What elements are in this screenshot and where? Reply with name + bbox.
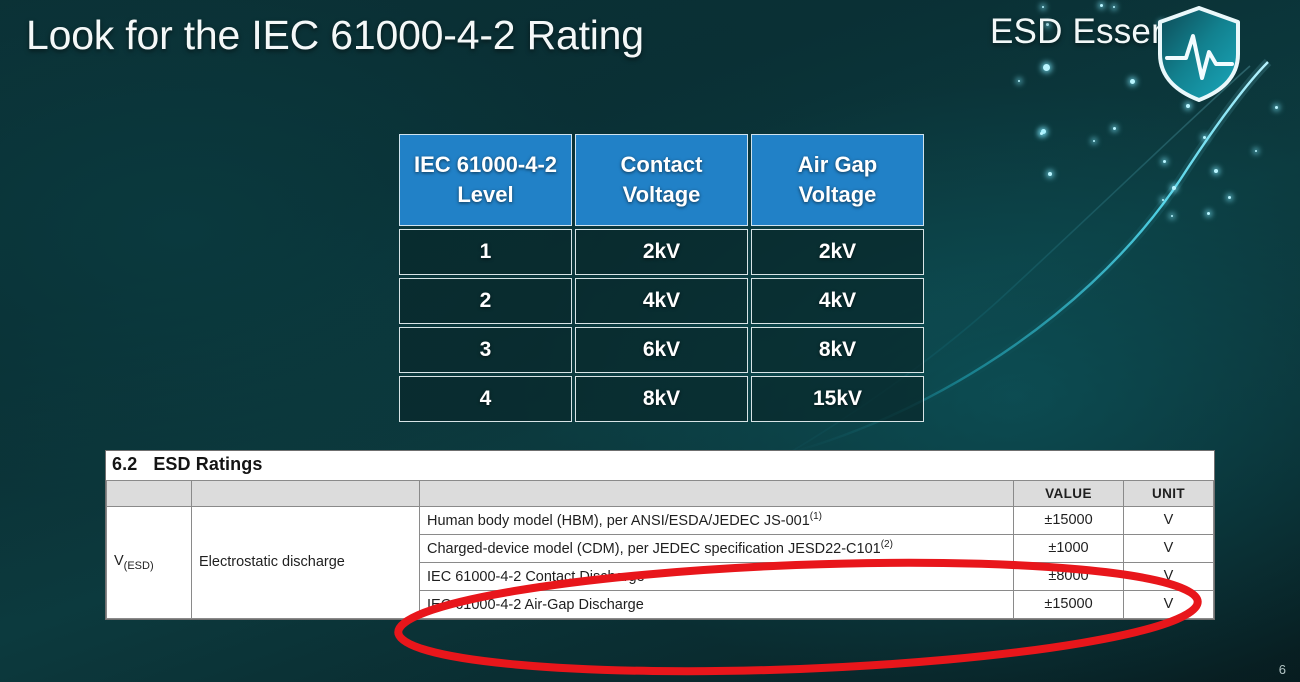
cell-condition: Charged-device model (CDM), per JEDEC sp… [420, 534, 1014, 562]
presentation-slide: Look for the IEC 61000-4-2 Rating ESD Es… [0, 0, 1300, 682]
slide-title: Look for the IEC 61000-4-2 Rating [26, 12, 644, 59]
cell-contact-voltage: 8kV [575, 376, 748, 422]
column-header-level: IEC 61000-4-2 Level [399, 134, 572, 226]
iec-level-table: IEC 61000-4-2 Level Contact Voltage Air … [396, 131, 927, 425]
esd-ratings-datasheet: 6.2ESD Ratings VALUE UNIT V(ESD) [105, 450, 1215, 620]
cell-symbol-vesd: V(ESD) [107, 507, 192, 619]
brand-wordmark: ESD Essentials [990, 12, 1234, 52]
cell-level: 2 [399, 278, 572, 324]
table-row: V(ESD) Electrostatic discharge Human bod… [107, 507, 1214, 535]
column-header-contact-line2: Voltage [623, 182, 701, 207]
cell-contact-voltage: 4kV [575, 278, 748, 324]
cell-parameter-electrostatic-discharge: Electrostatic discharge [192, 507, 420, 619]
cell-air-gap-voltage: 8kV [751, 327, 924, 373]
column-header-airgap-line1: Air Gap [798, 152, 877, 177]
cell-level: 1 [399, 229, 572, 275]
table-row: 1 2kV 2kV [399, 229, 924, 275]
datasheet-table: VALUE UNIT V(ESD) Electrostatic discharg… [106, 480, 1214, 619]
condition-text: Charged-device model (CDM), per JEDEC sp… [427, 541, 881, 557]
cell-condition: Human body model (HBM), per ANSI/ESDA/JE… [420, 507, 1014, 535]
symbol-subscript: (ESD) [124, 560, 154, 572]
cell-level: 3 [399, 327, 572, 373]
condition-text: IEC 61000-4-2 Air-Gap Discharge [427, 597, 644, 613]
column-header-level-line2: Level [457, 182, 513, 207]
condition-text: Human body model (HBM), per ANSI/ESDA/JE… [427, 513, 810, 529]
datasheet-header-parameter [192, 481, 420, 507]
cell-unit: V [1124, 562, 1214, 590]
cell-air-gap-voltage: 4kV [751, 278, 924, 324]
cell-level: 4 [399, 376, 572, 422]
datasheet-header-value: VALUE [1014, 481, 1124, 507]
cell-air-gap-voltage: 15kV [751, 376, 924, 422]
column-header-airgap-line2: Voltage [799, 182, 877, 207]
datasheet-header-condition [420, 481, 1014, 507]
cell-contact-voltage: 2kV [575, 229, 748, 275]
cell-value: ±1000 [1014, 534, 1124, 562]
datasheet-header-unit: UNIT [1124, 481, 1214, 507]
table-row: 4 8kV 15kV [399, 376, 924, 422]
column-header-air-gap-voltage: Air Gap Voltage [751, 134, 924, 226]
cell-value: ±8000 [1014, 562, 1124, 590]
column-header-contact-voltage: Contact Voltage [575, 134, 748, 226]
cell-unit: V [1124, 507, 1214, 535]
cell-air-gap-voltage: 2kV [751, 229, 924, 275]
slide-page-number: 6 [1279, 662, 1286, 677]
table-row: 2 4kV 4kV [399, 278, 924, 324]
condition-footnote: (2) [881, 539, 893, 550]
cell-unit: V [1124, 534, 1214, 562]
datasheet-header-symbol [107, 481, 192, 507]
cell-condition: IEC 61000-4-2 Contact Discharge [420, 562, 1014, 590]
column-header-level-line1: IEC 61000-4-2 [414, 152, 557, 177]
datasheet-section-heading: 6.2ESD Ratings [106, 451, 1214, 480]
cell-value: ±15000 [1014, 590, 1124, 618]
section-number: 6.2 [112, 454, 137, 474]
datasheet-header-row: VALUE UNIT [107, 481, 1214, 507]
condition-text: IEC 61000-4-2 Contact Discharge [427, 569, 645, 585]
table-header-row: IEC 61000-4-2 Level Contact Voltage Air … [399, 134, 924, 226]
cell-value: ±15000 [1014, 507, 1124, 535]
condition-footnote: (1) [810, 511, 822, 522]
cell-contact-voltage: 6kV [575, 327, 748, 373]
symbol-letter: V [114, 553, 124, 569]
cell-condition: IEC 61000-4-2 Air-Gap Discharge [420, 590, 1014, 618]
cell-unit: V [1124, 590, 1214, 618]
section-title: ESD Ratings [153, 454, 262, 474]
shield-pulse-icon [1156, 6, 1242, 102]
table-row: 3 6kV 8kV [399, 327, 924, 373]
column-header-contact-line1: Contact [621, 152, 703, 177]
